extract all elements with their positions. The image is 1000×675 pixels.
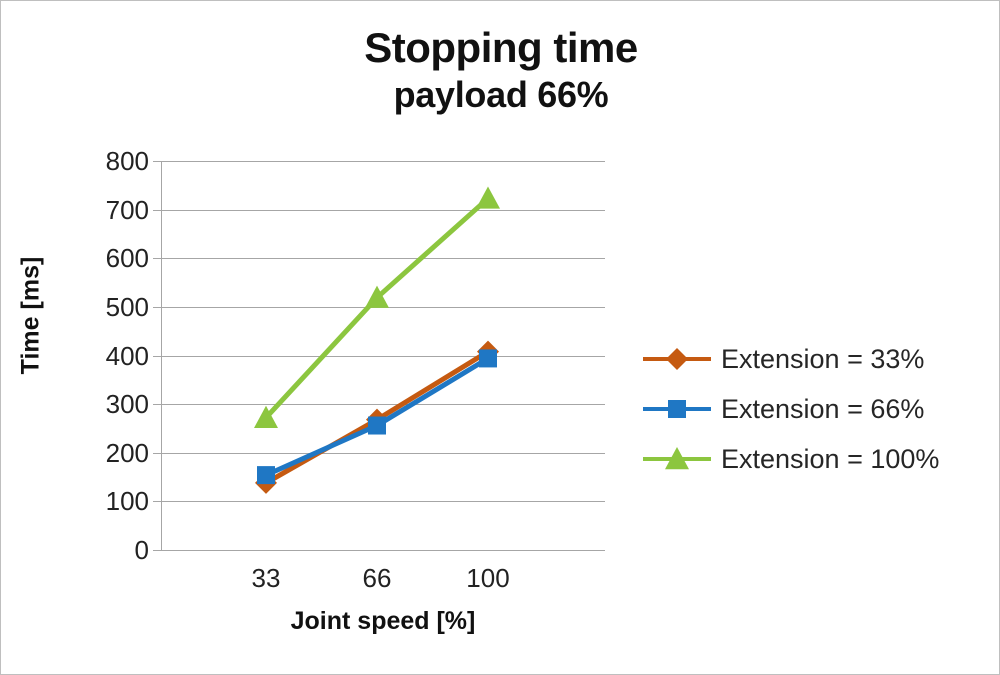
chart-title-block: Stopping time payload 66%: [1, 23, 1000, 117]
chart-subtitle: payload 66%: [1, 73, 1000, 117]
y-axis-tick-label: 600: [87, 245, 149, 271]
plot-area: [161, 161, 605, 550]
chart-legend: Extension = 33%Extension = 66%Extension …: [641, 334, 991, 484]
chart-title: Stopping time: [1, 23, 1000, 73]
data-point-marker: [479, 349, 497, 367]
legend-triangle-icon: [641, 446, 713, 472]
chart-container: Stopping time payload 66% Time [ms] 8007…: [0, 0, 1000, 675]
data-point-marker: [668, 400, 686, 418]
legend-label: Extension = 66%: [721, 394, 924, 425]
y-axis-tick-label: 800: [87, 148, 149, 174]
x-axis-tick-labels: 3366100: [161, 563, 605, 597]
data-point-marker: [666, 348, 688, 370]
series-line: [266, 198, 488, 417]
data-point-marker: [257, 466, 275, 484]
y-axis-tick-label: 200: [87, 440, 149, 466]
y-axis-tick-label: 500: [87, 294, 149, 320]
y-axis-title: Time [ms]: [17, 256, 46, 376]
x-axis-title: Joint speed [%]: [161, 607, 605, 636]
y-axis-tick-label: 400: [87, 343, 149, 369]
y-axis-tick-label: 0: [87, 537, 149, 563]
x-axis-tick-label: 33: [206, 563, 326, 594]
x-axis-tick-label: 66: [317, 563, 437, 594]
y-axis-tick-labels: 8007006005004003002001000: [87, 161, 149, 550]
legend-diamond-icon: [641, 346, 713, 372]
x-axis-tick-label: 100: [428, 563, 548, 594]
y-axis-tick-label: 700: [87, 197, 149, 223]
y-axis-tick-label: 300: [87, 391, 149, 417]
legend-item-3[interactable]: Extension = 100%: [641, 434, 991, 484]
series-3: [254, 186, 500, 427]
legend-square-icon: [641, 396, 713, 422]
legend-item-1[interactable]: Extension = 33%: [641, 334, 991, 384]
data-point-marker: [368, 417, 386, 435]
legend-label: Extension = 33%: [721, 344, 924, 375]
legend-item-2[interactable]: Extension = 66%: [641, 384, 991, 434]
legend-label: Extension = 100%: [721, 444, 939, 475]
y-axis-tick-label: 100: [87, 488, 149, 514]
x-axis-line: [161, 550, 605, 551]
data-point-marker: [476, 186, 500, 208]
series-layer: [161, 161, 605, 550]
